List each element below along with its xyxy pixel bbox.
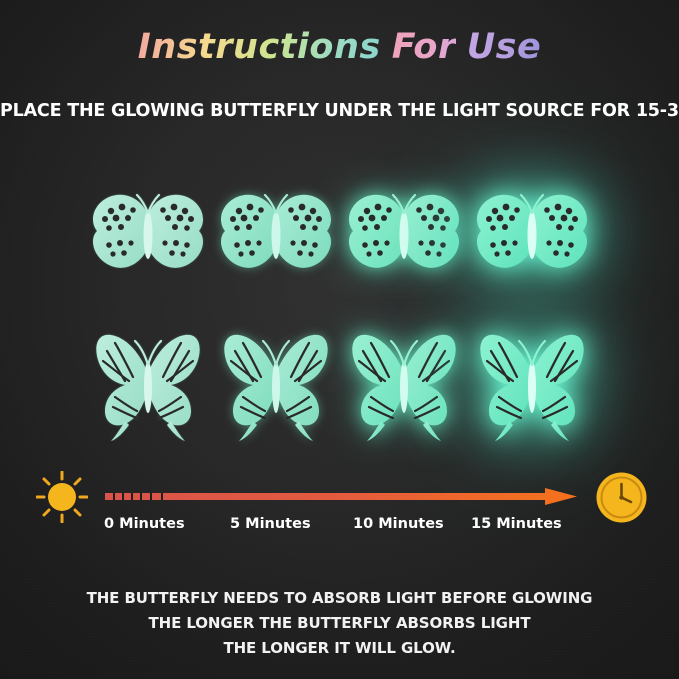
butterfly-no-glow [84,328,212,448]
footer-line-2: THE LONGER THE BUTTERFLY ABSORBS LIGHT [0,611,679,636]
timeline-label-0: 0 Minutes [104,516,185,532]
timeline-label-2: 10 Minutes [353,516,444,532]
subtitle-text: PLACE THE GLOWING BUTTERFLY UNDER THE LI… [0,101,679,121]
timeline-label-1: 5 Minutes [230,516,311,532]
title-word-2: For [392,27,456,67]
butterfly-swallowtail-icon [213,329,339,447]
butterfly-medium-glow [340,328,468,448]
butterfly-faint-glow [212,183,340,293]
butterfly-round-icon [469,185,595,291]
butterfly-faint-glow [212,328,340,448]
butterfly-no-glow [84,183,212,293]
butterfly-medium-glow [340,183,468,293]
butterfly-bright-glow [468,183,596,293]
butterfly-round-icon [213,185,339,291]
footer-line-1: THE BUTTERFLY NEEDS TO ABSORB LIGHT BEFO… [0,586,679,611]
footer-line-3: THE LONGER IT WILL GLOW. [0,636,679,661]
butterfly-round-icon [341,185,467,291]
page-title: InstructionsForUse [0,27,679,67]
time-arrow [105,486,583,508]
footer-text: THE BUTTERFLY NEEDS TO ABSORB LIGHT BEFO… [0,586,679,661]
title-word-1: Instructions [138,27,381,67]
sun-icon [36,471,88,523]
butterfly-swallowtail-icon [341,329,467,447]
clock-icon [594,470,649,525]
butterfly-row-2 [0,325,679,450]
timeline-label-3: 15 Minutes [471,516,562,532]
poster-root: InstructionsForUse PLACE THE GLOWING BUT… [0,0,679,679]
butterfly-swallowtail-icon [85,329,211,447]
butterfly-bright-glow [468,328,596,448]
butterfly-row-1 [0,180,679,295]
title-word-3: Use [467,27,542,67]
timeline-labels: 0 Minutes 5 Minutes 10 Minutes 15 Minute… [104,516,582,538]
butterfly-round-icon [85,185,211,291]
butterfly-swallowtail-icon [469,329,595,447]
